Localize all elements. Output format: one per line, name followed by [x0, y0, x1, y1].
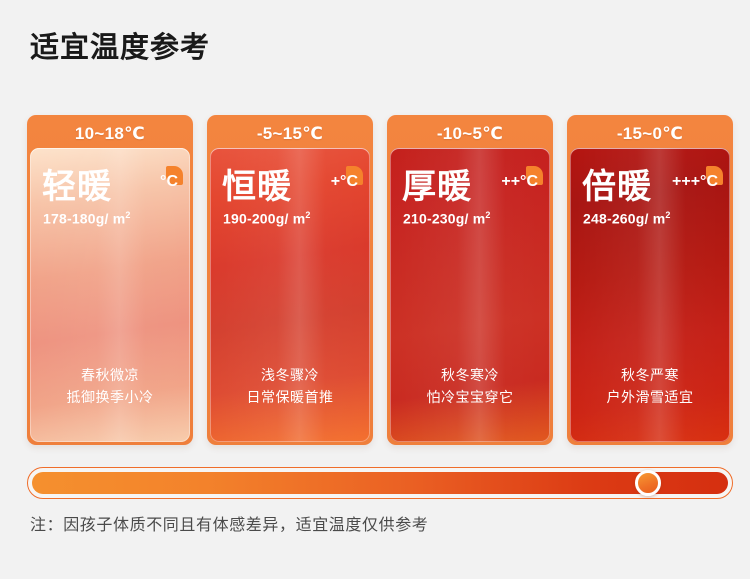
card-body: 倍暖 +++°C 248-260g/ m2 秋冬严寒 户外滑雪适宜 [570, 148, 730, 442]
card-title-row: 厚暖 ++°C [402, 168, 540, 206]
card-desc-line-1: 春秋微凉 [36, 364, 184, 386]
card-description: 浅冬骤冷 日常保暖首推 [216, 364, 364, 408]
card-weight-value: 210-230g/ m [403, 211, 485, 227]
card-description: 春秋微凉 抵御换季小冷 [36, 364, 184, 408]
card-weight: 210-230g/ m2 [403, 210, 491, 227]
card-name: 倍暖 [582, 168, 652, 206]
card-weight-exponent: 2 [305, 210, 310, 220]
card-weight-exponent: 2 [125, 210, 130, 220]
footnote: 注：因孩子体质不同且有体感差异，适宜温度仅供参考 [30, 514, 428, 538]
card-title-row: 恒暖 +°C [222, 168, 360, 206]
card-unit-wrap: +°C [331, 172, 360, 192]
card-desc-line-1: 秋冬寒冷 [396, 364, 544, 386]
card-unit-label: +°C [331, 172, 358, 192]
card-weight-exponent: 2 [485, 210, 490, 220]
temperature-card[interactable]: -5~15℃ 恒暖 +°C 190-200g/ m2 浅冬骤冷 日常保暖首推 [207, 115, 373, 445]
slider-knob[interactable] [635, 470, 661, 496]
card-body: 恒暖 +°C 190-200g/ m2 浅冬骤冷 日常保暖首推 [210, 148, 370, 442]
temperature-card[interactable]: -15~0℃ 倍暖 +++°C 248-260g/ m2 秋冬严寒 户外滑雪适宜 [567, 115, 733, 445]
temperature-card-list: 10~18℃ 轻暖 °C 178-180g/ m2 春秋微凉 抵御换季小冷 -5… [27, 115, 733, 445]
card-unit-wrap: °C [160, 172, 180, 192]
warmth-level-slider[interactable] [27, 467, 733, 499]
card-title-row: 倍暖 +++°C [582, 168, 720, 206]
temperature-card[interactable]: -10~5℃ 厚暖 ++°C 210-230g/ m2 秋冬寒冷 怕冷宝宝穿它 [387, 115, 553, 445]
card-temp-range: -5~15℃ [207, 115, 373, 153]
card-desc-line-2: 抵御换季小冷 [36, 386, 184, 408]
card-weight-exponent: 2 [665, 210, 670, 220]
card-desc-line-2: 怕冷宝宝穿它 [396, 386, 544, 408]
card-temp-range: 10~18℃ [27, 115, 193, 153]
card-description: 秋冬寒冷 怕冷宝宝穿它 [396, 364, 544, 408]
card-desc-line-2: 日常保暖首推 [216, 386, 364, 408]
card-temp-range: -10~5℃ [387, 115, 553, 153]
card-name: 恒暖 [222, 168, 292, 206]
card-temp-range: -15~0℃ [567, 115, 733, 153]
card-unit-label: +++°C [672, 172, 718, 192]
card-desc-line-1: 秋冬严寒 [576, 364, 724, 386]
card-weight: 178-180g/ m2 [43, 210, 131, 227]
card-unit-wrap: +++°C [672, 172, 720, 192]
card-unit-label: °C [160, 172, 178, 192]
temperature-card[interactable]: 10~18℃ 轻暖 °C 178-180g/ m2 春秋微凉 抵御换季小冷 [27, 115, 193, 445]
card-body: 厚暖 ++°C 210-230g/ m2 秋冬寒冷 怕冷宝宝穿它 [390, 148, 550, 442]
card-name: 轻暖 [42, 168, 112, 206]
card-title-row: 轻暖 °C [42, 168, 180, 206]
card-desc-line-1: 浅冬骤冷 [216, 364, 364, 386]
page-title: 适宜温度参考 [30, 28, 210, 68]
card-desc-line-2: 户外滑雪适宜 [576, 386, 724, 408]
card-weight-value: 190-200g/ m [223, 211, 305, 227]
card-unit-label: ++°C [501, 172, 538, 192]
card-description: 秋冬严寒 户外滑雪适宜 [576, 364, 724, 408]
card-weight: 190-200g/ m2 [223, 210, 311, 227]
card-weight-value: 248-260g/ m [583, 211, 665, 227]
card-weight-value: 178-180g/ m [43, 211, 125, 227]
card-unit-wrap: ++°C [501, 172, 540, 192]
card-name: 厚暖 [402, 168, 472, 206]
card-body: 轻暖 °C 178-180g/ m2 春秋微凉 抵御换季小冷 [30, 148, 190, 442]
slider-track[interactable] [32, 472, 728, 494]
card-weight: 248-260g/ m2 [583, 210, 671, 227]
